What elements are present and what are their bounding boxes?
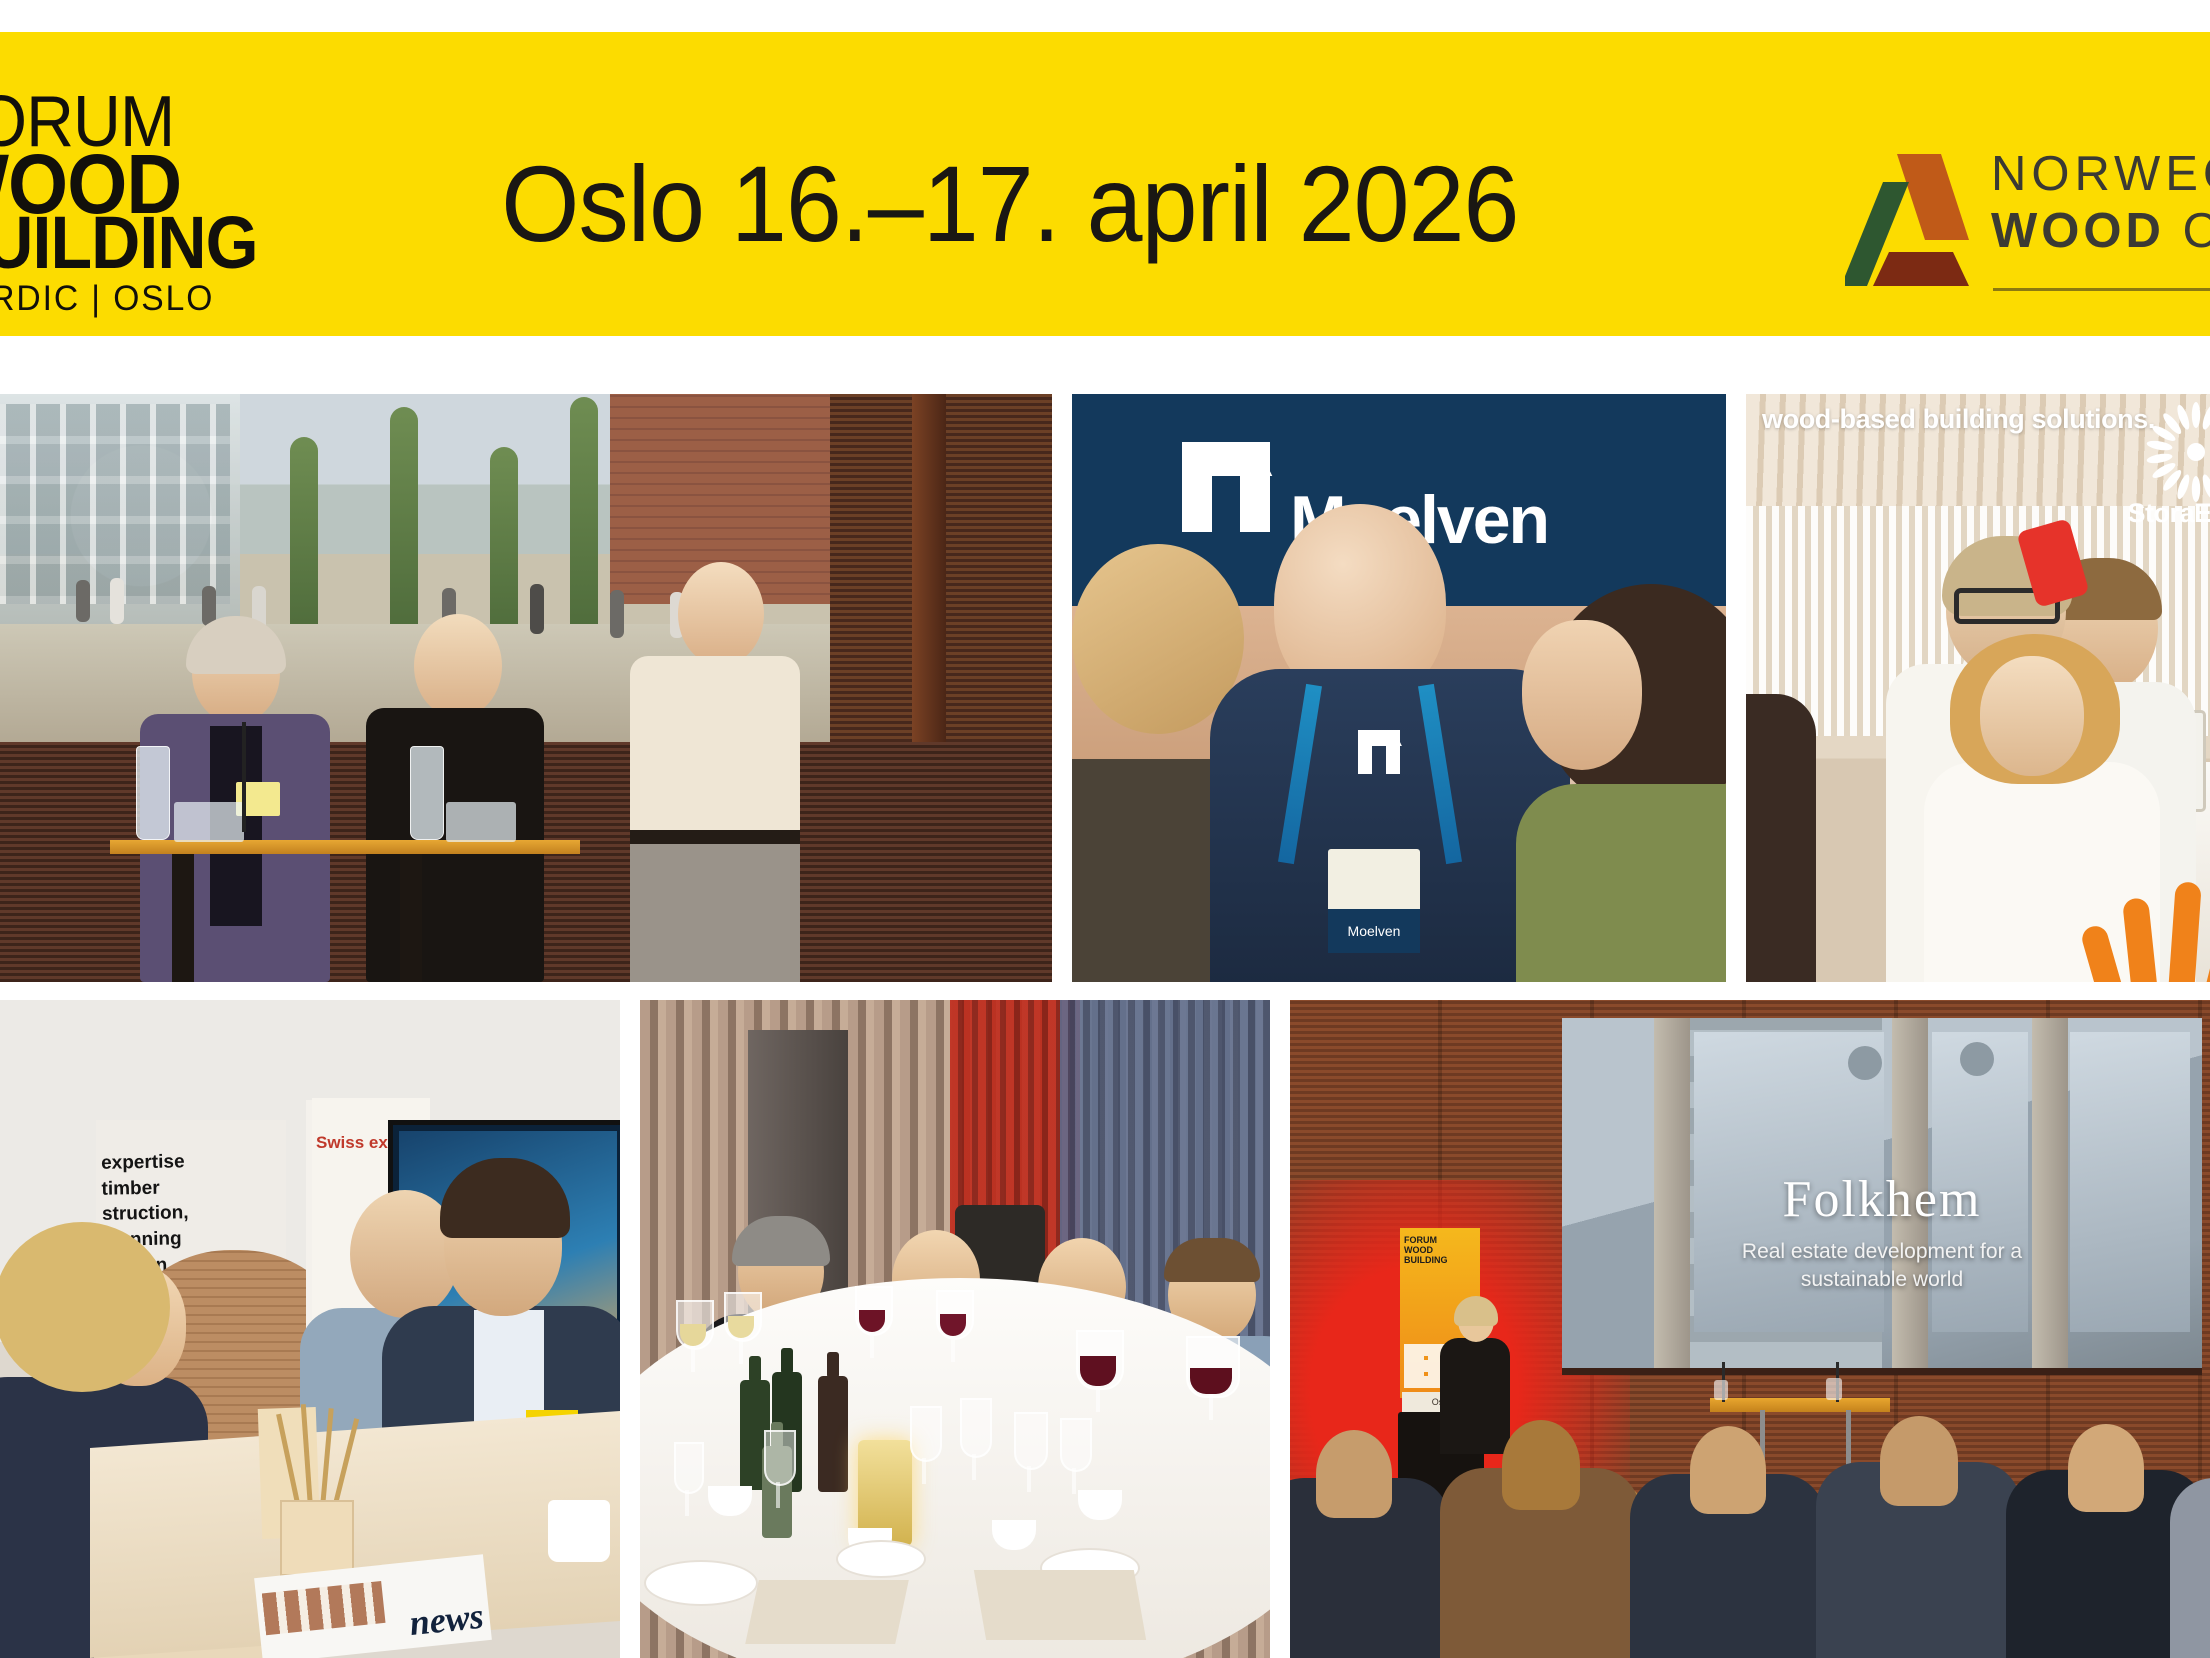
orange-graphic-element [2098, 874, 2210, 982]
lectern-stand [400, 852, 422, 982]
nwc-triangle-mark [1845, 148, 1975, 286]
stora-enso-sunburst-icon [2146, 402, 2210, 502]
name-badge: Moelven [1328, 849, 1420, 953]
visitor-curly-hair [0, 1222, 170, 1392]
folded-napkin [974, 1570, 1146, 1640]
visitor-top [1516, 784, 1726, 982]
speaker-trousers [630, 836, 800, 982]
event-date-text: Oslo 16.–17. april 2026 [501, 141, 1518, 266]
chest-logo-icon [1358, 730, 1410, 776]
photo-exhibition-table: expertisetimberstruction,planningruction… [0, 1000, 620, 1658]
slide-title: Folkhem [1562, 1170, 2202, 1229]
speaker-hair [186, 616, 286, 674]
nwc-line-norwegian: NORWEGIAN [1991, 150, 2210, 199]
speaker-figure [630, 562, 800, 982]
audience [1290, 1408, 2210, 1658]
stora-enso-wordmark: StoraEnso [2127, 498, 2210, 529]
rollup-logo-text: FORUMWOODBUILDING [1404, 1236, 1448, 1266]
visitor-foreground-right [1506, 584, 1726, 982]
speaker-figure [360, 614, 550, 982]
news-masthead: news [407, 1595, 485, 1645]
nwc-underline-rule [1993, 288, 2210, 291]
slide-subtitle: Real estate development for a sustainabl… [1692, 1238, 2072, 1295]
nwc-wordmark: NORWEGIAN WOOD CLUSTER [1991, 150, 2210, 256]
coffee-mug [548, 1500, 610, 1562]
event-date-headline: Oslo 16.–17. april 2026 [380, 138, 1640, 268]
water-carafe [410, 746, 444, 840]
visitor-face [1522, 620, 1642, 770]
water-glasses [446, 802, 516, 842]
logo-line-building: BUILDING [0, 206, 258, 280]
logo-line-nordic-oslo: NORDIC | OSLO [0, 279, 214, 319]
presentation-screen: Folkhem Real estate development for a su… [1562, 1018, 2202, 1375]
promo-banner-page: FORUM WOOD BUILDING NORDIC | OSLO Oslo 1… [0, 0, 2210, 1658]
forum-wood-building-logo: FORUM WOOD BUILDING NORDIC | OSLO [0, 86, 356, 286]
lectern-top [110, 840, 340, 854]
header-banner: FORUM WOOD BUILDING NORDIC | OSLO Oslo 1… [0, 32, 2210, 336]
slide-lamp [1848, 1046, 1882, 1080]
presenter-hair [1454, 1296, 1498, 1326]
rendering-tree [570, 397, 598, 647]
magazine-cover-graphic [262, 1581, 386, 1635]
rendering-tree [290, 437, 318, 647]
photo-conference-dinner [640, 1000, 1270, 1658]
rendering-figure [76, 580, 90, 622]
water-carafe [136, 746, 170, 840]
norwegian-wood-cluster-logo: NORWEGIAN WOOD CLUSTER [1845, 140, 2210, 310]
foreground-person-silhouette [1746, 694, 1816, 982]
rendering-glass-facade [0, 404, 230, 604]
water-bottle [1714, 1380, 1728, 1400]
photo-grid: Moelven Moelven [0, 394, 2210, 1658]
water-glass [1826, 1378, 1842, 1400]
photo-moelven-booth: Moelven Moelven [1072, 394, 1726, 982]
visitor-face [1980, 656, 2084, 776]
stacked-plates [644, 1560, 758, 1606]
rendering-figure [110, 578, 124, 624]
speaker-head [414, 614, 502, 718]
badge-logo-strip: Moelven [1328, 909, 1420, 953]
lectern-stand [172, 852, 194, 982]
rendering-tree [390, 407, 418, 647]
lectern-top [340, 840, 580, 854]
photo-stora-enso-booth: wood-based building solutions. StoraEnso [1746, 394, 2210, 982]
wine-bottle [818, 1376, 848, 1492]
speaker-belt [630, 830, 800, 844]
water-glasses [174, 802, 244, 842]
speaker-shirt [630, 656, 800, 846]
rendering-figure [610, 590, 624, 638]
wooden-pencil-holder [280, 1500, 354, 1576]
slide-lamp [1960, 1042, 1994, 1076]
nwc-cluster-text: CLUSTER [2183, 204, 2210, 258]
photo-panel-discussion [0, 394, 1052, 982]
photo-auditorium: Folkhem Real estate development for a su… [1290, 1000, 2210, 1658]
stora-enso-tagline: wood-based building solutions. [1762, 404, 2155, 434]
speaker-head [678, 562, 764, 666]
nwc-line-wood-cluster: WOOD CLUSTER [1991, 207, 2210, 256]
exhibitor-hair [440, 1158, 570, 1238]
nwc-wood-text: WOOD [1991, 204, 2165, 258]
plate [836, 1540, 926, 1578]
microphone-stand [242, 722, 246, 832]
guest-hair [732, 1216, 830, 1266]
folded-napkin [745, 1580, 909, 1644]
